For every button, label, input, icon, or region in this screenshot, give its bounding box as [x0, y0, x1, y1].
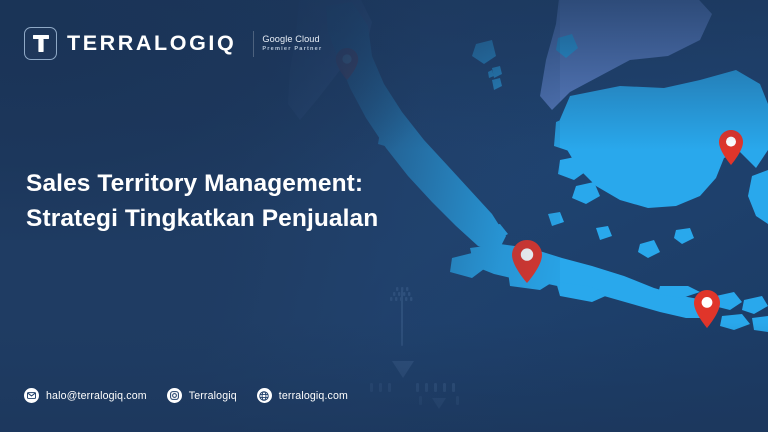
contact-instagram-label: Terralogiq [189, 390, 237, 402]
partner-badge-line1: Google Cloud [262, 34, 322, 45]
globe-icon [257, 388, 272, 403]
contact-bar: halo@terralogiq.com Terralogiq terralogi… [24, 388, 348, 403]
contact-email[interactable]: halo@terralogiq.com [24, 388, 147, 403]
brand-wordmark: TERRALOGIQ [67, 33, 236, 55]
contact-email-label: halo@terralogiq.com [46, 390, 147, 402]
slide-root: TERRALOGIQ Google Cloud Premier Partner … [0, 0, 768, 432]
page-title: Sales Territory Management: Strategi Tin… [26, 166, 378, 236]
t-monogram-glyph [32, 34, 50, 53]
email-icon [24, 388, 39, 403]
partner-badge-line2: Premier Partner [262, 45, 322, 53]
email-glyph [27, 392, 36, 399]
brand-logo[interactable]: TERRALOGIQ Google Cloud Premier Partner [24, 27, 322, 60]
instagram-icon [167, 388, 182, 403]
title-line-2: Strategi Tingkatkan Penjualan [26, 201, 378, 236]
contact-website-label: terralogiq.com [279, 390, 348, 402]
contact-website[interactable]: terralogiq.com [257, 388, 348, 403]
instagram-glyph [170, 391, 179, 400]
title-line-1: Sales Territory Management: [26, 166, 378, 201]
google-cloud-partner-badge: Google Cloud Premier Partner [253, 31, 322, 57]
contact-instagram[interactable]: Terralogiq [167, 388, 237, 403]
globe-glyph [259, 391, 269, 401]
terralogiq-t-monogram-icon [24, 27, 57, 60]
